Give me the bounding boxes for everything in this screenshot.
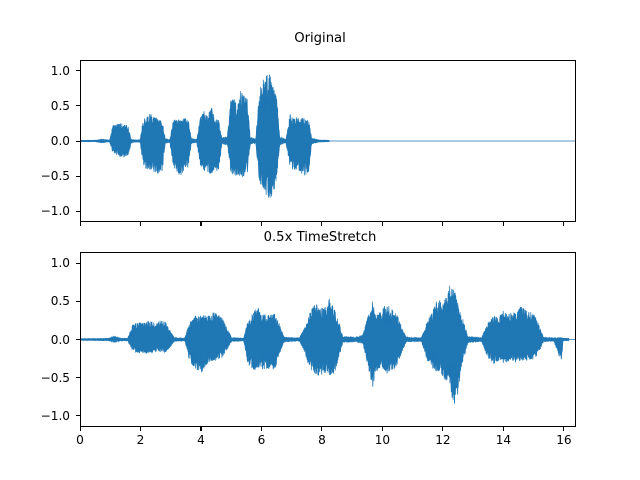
subplot-title-original: Original: [0, 31, 640, 46]
y-tick-mark: [76, 339, 80, 340]
x-tick-mark: [563, 427, 564, 431]
y-tick-label: −1.0: [28, 204, 70, 218]
y-tick-mark: [76, 263, 80, 264]
y-tick-mark: [76, 415, 80, 416]
x-tick-mark: [442, 427, 443, 431]
matplotlib-figure: Original −1.0−0.50.00.51.0 0.5x TimeStre…: [0, 0, 640, 480]
x-tick-mark: [321, 222, 322, 226]
y-tick-label: −0.5: [28, 169, 70, 183]
x-tick-mark: [382, 427, 383, 431]
plot-area-original: [81, 61, 575, 221]
x-tick-mark: [80, 222, 81, 226]
x-tick-mark: [140, 222, 141, 226]
x-tick-label: 12: [435, 433, 450, 447]
waveform-timestretch: [81, 253, 575, 426]
y-tick-mark: [76, 377, 80, 378]
x-tick-label: 14: [496, 433, 511, 447]
subplot-title-timestretch: 0.5x TimeStretch: [0, 230, 640, 245]
x-tick-label: 0: [76, 433, 84, 447]
y-tick-mark: [76, 70, 80, 71]
waveform-original: [81, 61, 575, 221]
y-tick-label: −0.5: [28, 371, 70, 385]
y-tick-mark: [76, 105, 80, 106]
x-tick-label: 4: [197, 433, 205, 447]
y-tick-label: 0.0: [28, 333, 70, 347]
axes-timestretch: [80, 252, 576, 427]
x-tick-mark: [140, 427, 141, 431]
y-tick-label: 0.0: [28, 134, 70, 148]
y-tick-label: 1.0: [28, 256, 70, 270]
x-tick-mark: [442, 222, 443, 226]
x-tick-label: 6: [258, 433, 266, 447]
x-tick-mark: [200, 427, 201, 431]
axes-original: [80, 60, 576, 222]
y-tick-mark: [76, 141, 80, 142]
x-tick-label: 10: [375, 433, 390, 447]
x-tick-mark: [261, 222, 262, 226]
x-tick-mark: [80, 427, 81, 431]
y-tick-label: 0.5: [28, 294, 70, 308]
x-tick-mark: [503, 427, 504, 431]
x-tick-mark: [503, 222, 504, 226]
y-tick-mark: [76, 176, 80, 177]
x-tick-label: 8: [318, 433, 326, 447]
x-tick-mark: [563, 222, 564, 226]
plot-area-timestretch: [81, 253, 575, 426]
x-tick-mark: [261, 427, 262, 431]
x-tick-label: 2: [137, 433, 145, 447]
y-tick-label: −1.0: [28, 409, 70, 423]
y-tick-mark: [76, 211, 80, 212]
y-tick-label: 0.5: [28, 99, 70, 113]
x-tick-label: 16: [556, 433, 571, 447]
y-tick-label: 1.0: [28, 64, 70, 78]
x-tick-mark: [321, 427, 322, 431]
y-tick-mark: [76, 301, 80, 302]
x-tick-mark: [200, 222, 201, 226]
x-tick-mark: [382, 222, 383, 226]
